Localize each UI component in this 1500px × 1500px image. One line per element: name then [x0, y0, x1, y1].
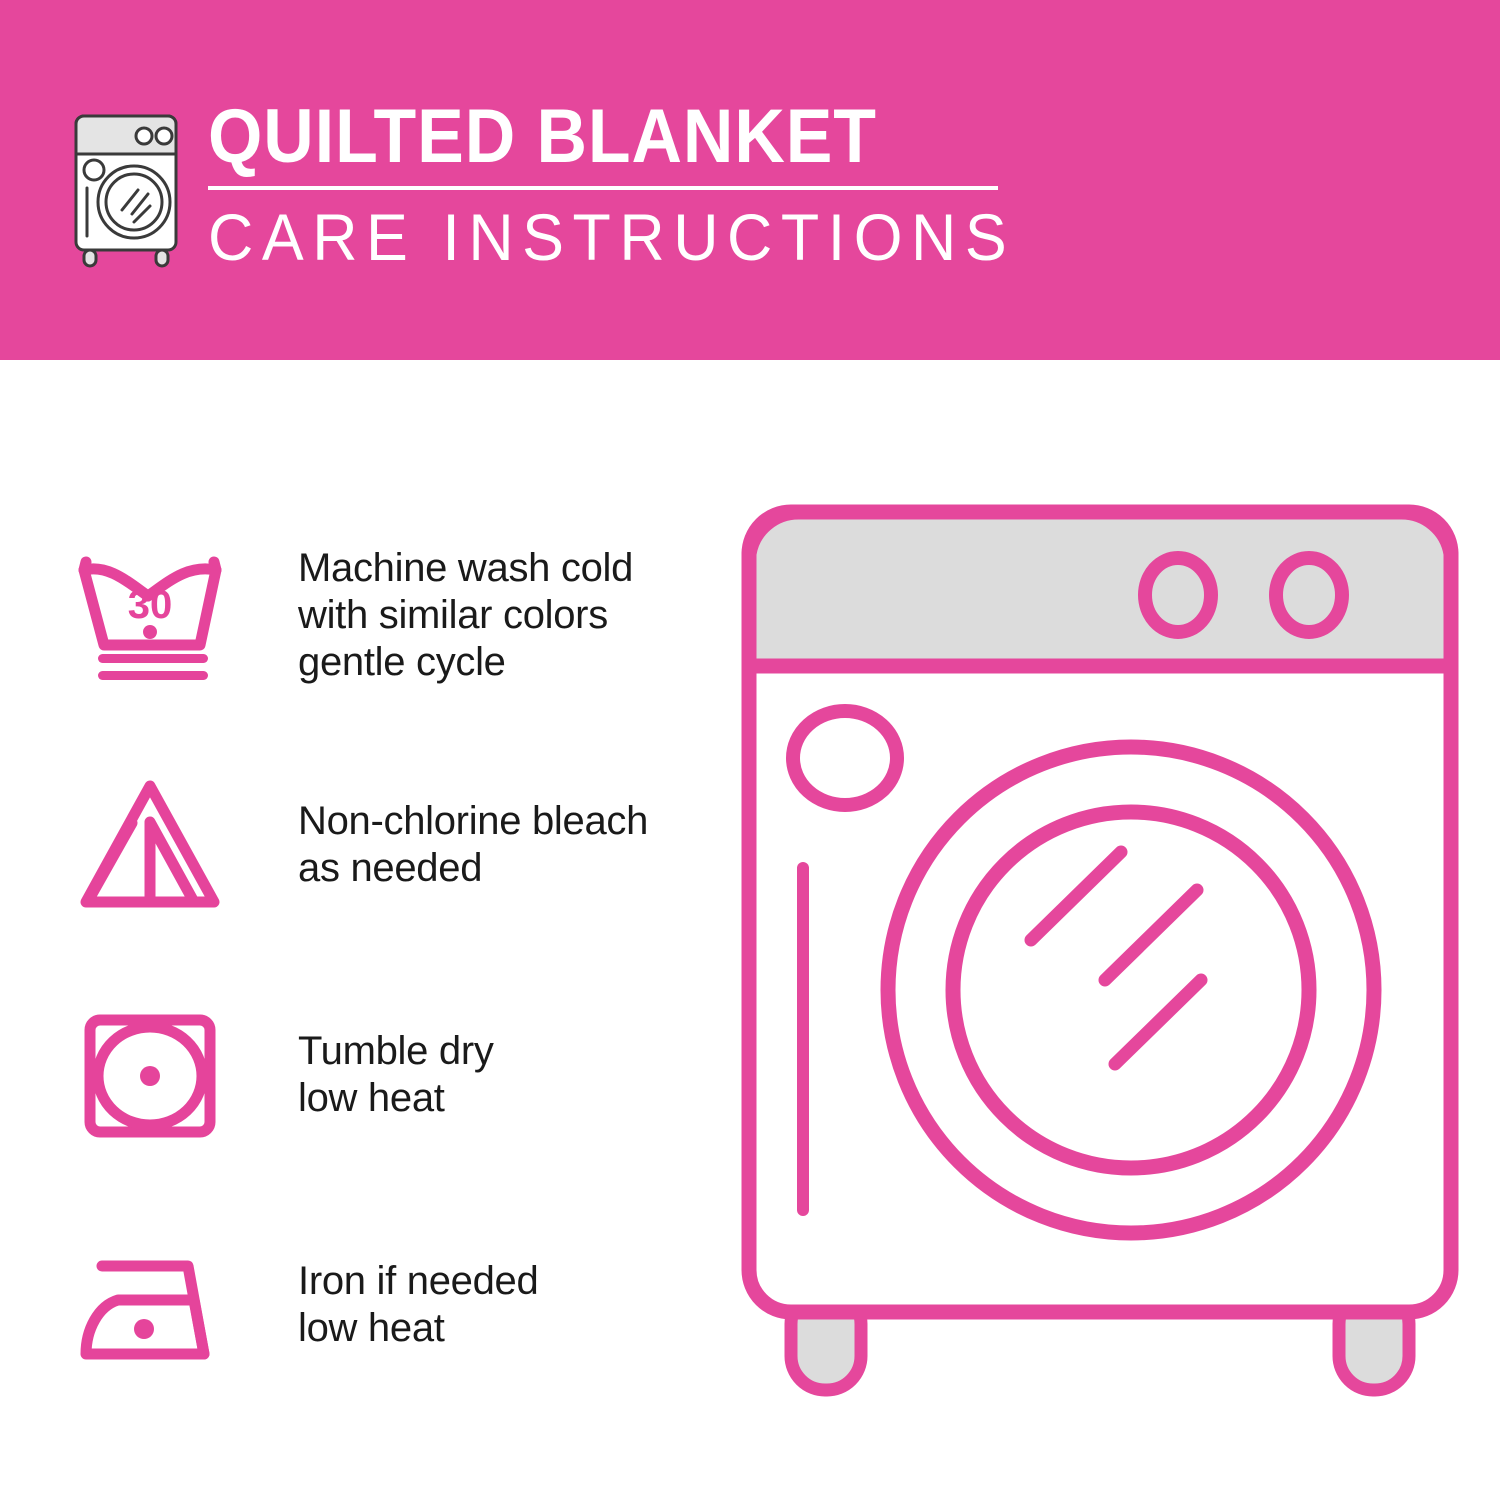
care-line: low heat [298, 1305, 710, 1352]
care-line: gentle cycle [298, 639, 710, 686]
tumble-dry-low-heat-icon [70, 1000, 245, 1150]
care-line: as needed [298, 845, 710, 892]
care-instruction-list: 30 Machine wash cold with similar colors… [70, 500, 710, 1420]
title-divider [208, 186, 998, 190]
page-subtitle: CARE INSTRUCTIONS [208, 202, 1015, 272]
non-chlorine-bleach-triangle-icon [70, 770, 245, 920]
care-symbol-slot [70, 1000, 260, 1150]
care-line: Iron if needed [298, 1258, 710, 1305]
wash-tub-30-gentle-icon: 30 [70, 540, 245, 690]
machine-dispenser-icon [793, 711, 897, 805]
header-banner: QUILTED BLANKET CARE INSTRUCTIONS [0, 0, 1500, 360]
care-row-tumble-dry: Tumble dry low heat [70, 960, 710, 1190]
header-title-group: QUILTED BLANKET CARE INSTRUCTIONS [208, 98, 1058, 272]
care-line: with similar colors [298, 592, 710, 639]
care-label-machine-wash: Machine wash cold with similar colors ge… [298, 545, 710, 686]
care-label-iron: Iron if needed low heat [298, 1258, 710, 1352]
washing-machine-icon [60, 110, 192, 270]
care-line: Machine wash cold [298, 545, 710, 592]
wash-temperature-value: 30 [128, 583, 173, 627]
care-label-bleach: Non-chlorine bleach as needed [298, 798, 710, 892]
main-content: 30 Machine wash cold with similar colors… [0, 360, 1500, 1500]
care-line: Tumble dry [298, 1028, 710, 1075]
care-row-bleach: Non-chlorine bleach as needed [70, 730, 710, 960]
care-symbol-slot [70, 1230, 260, 1380]
header-content: QUILTED BLANKET CARE INSTRUCTIONS [60, 98, 1058, 272]
care-line: Non-chlorine bleach [298, 798, 710, 845]
machine-knob-left[interactable] [1145, 558, 1211, 632]
iron-low-heat-icon [70, 1230, 245, 1380]
care-line: low heat [298, 1075, 710, 1122]
care-row-iron: Iron if needed low heat [70, 1190, 710, 1420]
care-symbol-slot: 30 [70, 540, 260, 690]
care-label-tumble-dry: Tumble dry low heat [298, 1028, 710, 1122]
machine-door-inner-ring [953, 812, 1309, 1168]
care-symbol-slot [70, 770, 260, 920]
machine-knob-right[interactable] [1276, 558, 1342, 632]
care-row-machine-wash: 30 Machine wash cold with similar colors… [70, 500, 710, 730]
large-washing-machine-illustration [735, 490, 1465, 1450]
page-title: QUILTED BLANKET [208, 98, 990, 176]
